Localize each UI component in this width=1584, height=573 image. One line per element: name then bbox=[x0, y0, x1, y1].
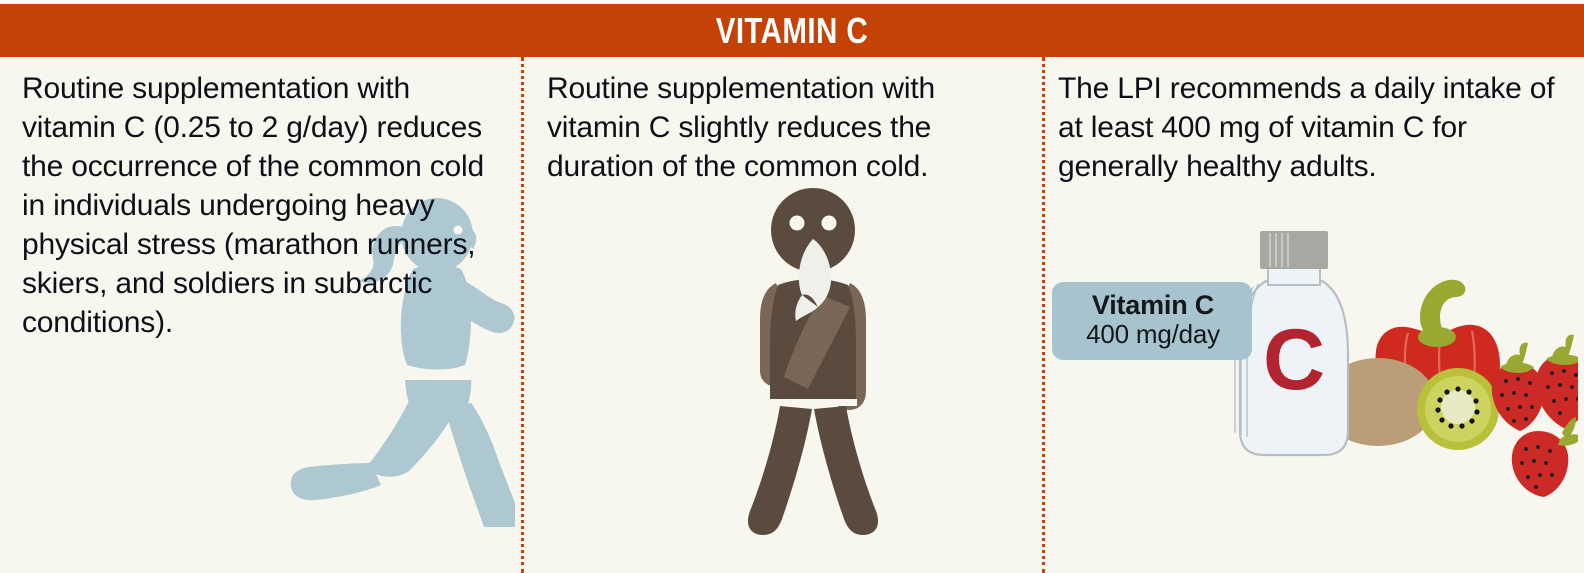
kiwi-half-icon bbox=[1417, 368, 1499, 450]
panel-recommendation-text: The LPI recommends a daily intake of at … bbox=[1058, 69, 1578, 186]
sick-person-with-tissue-icon bbox=[718, 185, 908, 540]
panel-occurrence-text: Routine supplementation with vitamin C (… bbox=[22, 69, 507, 342]
panel-duration: Routine supplementation with vitamin C s… bbox=[521, 57, 1042, 573]
panel-row: Routine supplementation with vitamin C (… bbox=[0, 57, 1584, 573]
panel-duration-text: Routine supplementation with vitamin C s… bbox=[547, 69, 1028, 186]
vitamin-c-infographic: VITAMIN C bbox=[0, 0, 1584, 573]
column-divider bbox=[1042, 57, 1045, 573]
bell-pepper-icon bbox=[1376, 280, 1500, 408]
svg-text:C: C bbox=[1263, 312, 1325, 408]
strawberry-icon bbox=[1536, 335, 1578, 429]
kiwi-whole-icon bbox=[1320, 358, 1436, 446]
page-title: VITAMIN C bbox=[716, 13, 868, 49]
panel-occurrence: Routine supplementation with vitamin C (… bbox=[0, 57, 521, 573]
dose-badge-amount: 400 mg/day bbox=[1066, 320, 1240, 349]
header-bar: VITAMIN C bbox=[0, 4, 1584, 57]
strawberry-icon bbox=[1512, 417, 1578, 497]
strawberry-icon bbox=[1492, 343, 1544, 431]
dose-badge: Vitamin C 400 mg/day bbox=[1052, 282, 1252, 360]
dose-badge-name: Vitamin C bbox=[1066, 291, 1240, 320]
panel-recommendation: C Vitamin C 400 mg/day The LPI recommend… bbox=[1042, 57, 1584, 573]
column-divider bbox=[521, 57, 524, 573]
